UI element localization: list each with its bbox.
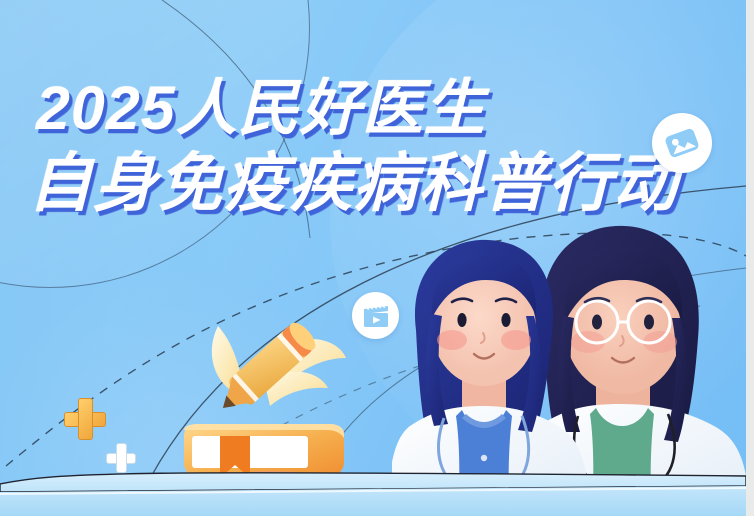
clinic-counter [0, 470, 746, 516]
image-photo-icon[interactable] [652, 113, 712, 173]
right-edge-strip [746, 0, 754, 516]
pencil-book-illustration [160, 296, 360, 496]
video-clapperboard-play-icon[interactable] [352, 292, 399, 339]
poster-background: 2025人民好医生 自身免疫疾病科普行动 [0, 0, 746, 516]
plus-icon-white [106, 443, 136, 473]
plus-icon-orange [64, 398, 106, 440]
poster-canvas: 2025人民好医生 自身免疫疾病科普行动 [0, 0, 754, 516]
